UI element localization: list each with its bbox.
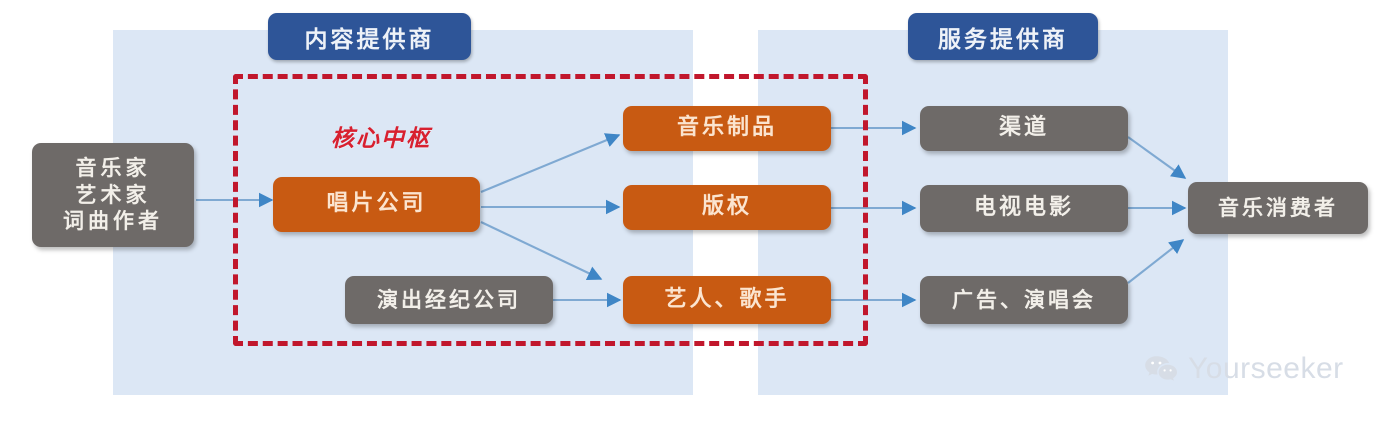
node-agency-company[interactable]: 演出经纪公司 [345, 276, 553, 324]
node-music-products[interactable]: 音乐制品 [623, 106, 831, 151]
node-channel-label: 渠道 [999, 114, 1049, 142]
node-creators-line-3: 词曲作者 [63, 208, 163, 235]
header-service-provider: 服务提供商 [908, 13, 1098, 60]
node-channel[interactable]: 渠道 [920, 106, 1128, 151]
node-copyright-label: 版权 [702, 193, 752, 221]
diagram-canvas: 内容提供商 服务提供商 核心中枢 音乐家 艺术家 词曲作者 唱片公司 演出经纪公… [0, 0, 1397, 427]
node-copyright[interactable]: 版权 [623, 185, 831, 230]
node-creators-line-2: 艺术家 [76, 182, 151, 209]
node-record-company[interactable]: 唱片公司 [273, 177, 480, 232]
edge-channel-to-consumer [1128, 137, 1185, 178]
edge-ads-concerts-to-consumer [1128, 240, 1183, 283]
node-artists-singers-label: 艺人、歌手 [664, 286, 789, 314]
node-music-consumer-label: 音乐消费者 [1218, 195, 1338, 222]
node-record-company-label: 唱片公司 [326, 190, 426, 218]
node-creators-line-1: 音乐家 [76, 155, 151, 182]
wechat-icon [1144, 354, 1178, 384]
header-content-provider-label: 内容提供商 [305, 20, 435, 54]
watermark-label: Yourseeker [1188, 352, 1344, 386]
node-ads-concerts[interactable]: 广告、演唱会 [920, 276, 1128, 324]
node-tv-film[interactable]: 电视电影 [920, 185, 1128, 232]
node-tv-film-label: 电视电影 [974, 194, 1074, 222]
node-artists-singers[interactable]: 艺人、歌手 [623, 276, 831, 324]
header-content-provider: 内容提供商 [268, 13, 471, 60]
node-creators[interactable]: 音乐家 艺术家 词曲作者 [32, 143, 194, 247]
node-music-consumer[interactable]: 音乐消费者 [1188, 182, 1368, 234]
edge-record-company-to-music-products [481, 135, 619, 192]
header-service-provider-label: 服务提供商 [938, 20, 1068, 54]
node-music-products-label: 音乐制品 [677, 114, 777, 142]
node-ads-concerts-label: 广告、演唱会 [952, 287, 1096, 314]
edge-record-company-to-artists [481, 222, 601, 279]
watermark: Yourseeker [1144, 352, 1344, 386]
core-hub-annotation: 核心中枢 [331, 119, 431, 153]
core-hub-annotation-label: 核心中枢 [331, 126, 431, 152]
node-agency-company-label: 演出经纪公司 [377, 287, 521, 314]
